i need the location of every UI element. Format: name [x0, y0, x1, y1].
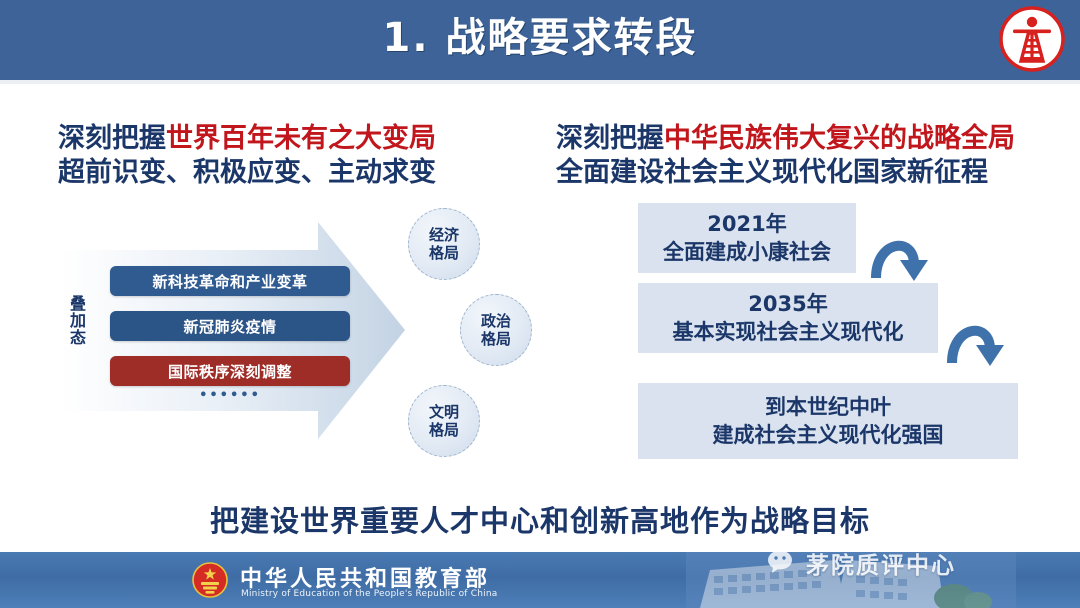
right-heading-line1-red: 中华民族伟大复兴的战略全局 — [664, 123, 1015, 154]
factor-bar-1: 新科技革命和产业变革 — [110, 266, 350, 296]
outcome-circle-economy: 经济 格局 — [408, 208, 480, 280]
factor-ellipsis: •••••• — [110, 388, 350, 403]
stack-state-label: 叠加态 — [62, 295, 86, 346]
factor-bar-3: 国际秩序深刻调整 — [110, 356, 350, 386]
right-heading: 深刻把握中华民族伟大复兴的战略全局 全面建设社会主义现代化国家新征程 — [556, 122, 1066, 190]
right-heading-line1: 深刻把握中华民族伟大复兴的战略全局 — [556, 122, 1066, 156]
outcome-circle-politics-line1: 政治 — [481, 312, 511, 330]
page-title: 1. 战略要求转段 — [0, 6, 1080, 70]
watermark-text: 茅院质评中心 — [806, 546, 956, 580]
red-circular-tower-emblem-icon — [998, 5, 1066, 73]
left-heading-line1-red: 世界百年未有之大变局 — [166, 123, 436, 154]
header-divider — [0, 80, 1080, 84]
left-heading-line2: 超前识变、积极应变、主动求变 — [58, 156, 558, 190]
right-heading-line1-dark: 深刻把握 — [556, 123, 664, 154]
outcome-circle-civilization: 文明 格局 — [408, 385, 480, 457]
curved-down-arrow-icon-1 — [868, 226, 930, 284]
milestone-box-midcentury-line1: 到本世纪中叶 — [765, 393, 891, 421]
right-heading-line2: 全面建设社会主义现代化国家新征程 — [556, 156, 1066, 190]
china-national-emblem-icon — [190, 560, 230, 600]
outcome-circle-economy-line1: 经济 — [429, 226, 459, 244]
milestone-box-2035-line1: 2035年 — [748, 290, 827, 318]
outcome-circle-civilization-line1: 文明 — [429, 403, 459, 421]
bottom-statement: 把建设世界重要人才中心和创新高地作为战略目标 — [0, 498, 1080, 540]
milestone-box-2021-line1: 2021年 — [707, 210, 786, 238]
slide-header-bar: 1. 战略要求转段 — [0, 0, 1080, 80]
outcome-circle-politics-line2: 格局 — [481, 330, 511, 348]
milestone-box-2035: 2035年 基本实现社会主义现代化 — [638, 283, 938, 353]
milestone-box-2035-line2: 基本实现社会主义现代化 — [673, 318, 904, 346]
outcome-circle-economy-line2: 格局 — [429, 244, 459, 262]
slide-root: 1. 战略要求转段 深刻把握世界百年未有之大变局 超前识变、积极应变、主动求变 … — [0, 0, 1080, 608]
left-heading-line1-dark: 深刻把握 — [58, 123, 166, 154]
milestone-box-2021: 2021年 全面建成小康社会 — [638, 203, 856, 273]
factor-bar-2: 新冠肺炎疫情 — [110, 311, 350, 341]
milestone-box-midcentury-line2: 建成社会主义现代化强国 — [713, 421, 944, 449]
milestone-box-2021-line2: 全面建成小康社会 — [663, 238, 831, 266]
footer-org-name-en: Ministry of Education of the People's Re… — [241, 589, 497, 599]
outcome-circle-civilization-line2: 格局 — [429, 421, 459, 439]
left-heading-line1: 深刻把握世界百年未有之大变局 — [58, 122, 558, 156]
left-heading: 深刻把握世界百年未有之大变局 超前识变、积极应变、主动求变 — [58, 122, 558, 190]
curved-down-arrow-icon-2 — [944, 311, 1006, 369]
wechat-icon — [766, 548, 800, 576]
milestone-box-midcentury: 到本世纪中叶 建成社会主义现代化强国 — [638, 383, 1018, 459]
outcome-circle-politics: 政治 格局 — [460, 294, 532, 366]
